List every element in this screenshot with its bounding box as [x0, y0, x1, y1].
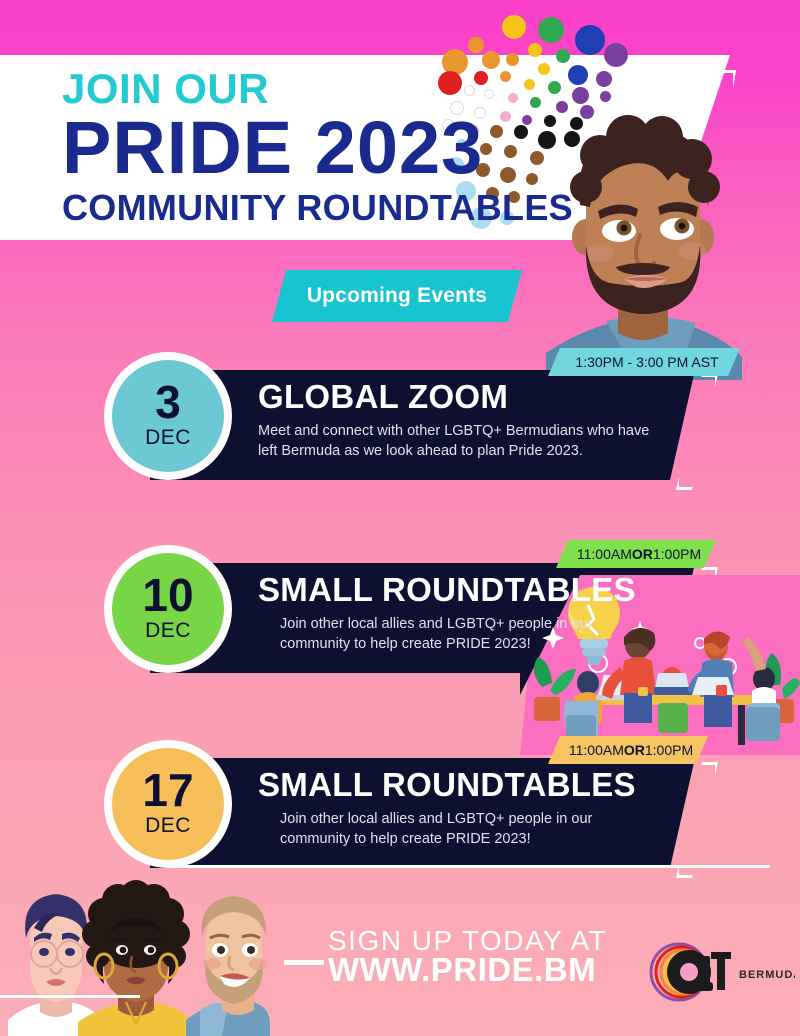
- event-3-date-circle: 17 DEC: [104, 740, 232, 868]
- event-3-title: SMALL ROUNDTABLES: [258, 768, 678, 803]
- out-bermuda-logo[interactable]: BERMUDA: [645, 942, 795, 1004]
- event-1-body: GLOBAL ZOOM Meet and connect with other …: [258, 380, 678, 461]
- header-text-group: JOIN OUR PRIDE 2023 COMMUNITY ROUNDTABLE…: [62, 68, 573, 227]
- event-1-time-badge: 1:30PM - 3:00 PM AST: [548, 348, 740, 376]
- event-2-time-prefix: 11:00AM: [577, 546, 632, 562]
- event-2-day: 10: [142, 575, 193, 616]
- event-1-month: DEC: [145, 426, 191, 450]
- community-roundtables-label: COMMUNITY ROUNDTABLES: [62, 189, 573, 227]
- join-our-label: JOIN OUR: [62, 68, 573, 110]
- event-3-time-suffix: 1:00PM: [645, 742, 693, 758]
- event-1-description: Meet and connect with other LGBTQ+ Bermu…: [258, 421, 658, 461]
- upcoming-events-label: Upcoming Events: [307, 284, 487, 308]
- upcoming-events-banner: Upcoming Events: [272, 270, 522, 322]
- pride-poster: Upcoming Events 1:30PM - 3:00 PM AST 3 D…: [0, 0, 800, 1036]
- event-2-date-circle: 10 DEC: [104, 545, 232, 673]
- event-3-time-badge: 11:00AM OR 1:00PM: [548, 736, 708, 764]
- event-3-description: Join other local allies and LGBTQ+ peopl…: [258, 809, 658, 849]
- event-2-time-suffix: 1:00PM: [653, 546, 701, 562]
- logo-subtext: BERMUDA: [739, 969, 795, 981]
- event-3-time-or: OR: [624, 742, 645, 758]
- pride-year-label: PRIDE 2023: [62, 112, 573, 183]
- event-2-time-badge: 11:00AM OR 1:00PM: [556, 540, 716, 568]
- event-1-time-label: 1:30PM - 3:00 PM AST: [575, 354, 718, 370]
- event-2-description: Join other local allies and LGBTQ+ peopl…: [258, 614, 658, 654]
- event-2-time-or: OR: [632, 546, 653, 562]
- website-url[interactable]: WWW.PRIDE.BM: [328, 953, 596, 986]
- event-3-time-prefix: 11:00AM: [569, 742, 624, 758]
- event-3-body: SMALL ROUNDTABLES Join other local allie…: [258, 768, 678, 849]
- event-2-body: SMALL ROUNDTABLES Join other local allie…: [258, 573, 678, 654]
- event-3-month: DEC: [145, 814, 191, 838]
- event-2-title: SMALL ROUNDTABLES: [258, 573, 678, 608]
- footer-dash: [284, 960, 324, 965]
- people-accent-line: [0, 995, 140, 998]
- event-1-date-circle: 3 DEC: [104, 352, 232, 480]
- event-1-title: GLOBAL ZOOM: [258, 380, 678, 415]
- bottom-accent-line: [170, 865, 771, 868]
- three-people-illustration: [0, 880, 270, 1036]
- event-3-day: 17: [142, 770, 193, 811]
- event-1-day: 3: [155, 382, 181, 423]
- event-2-month: DEC: [145, 619, 191, 643]
